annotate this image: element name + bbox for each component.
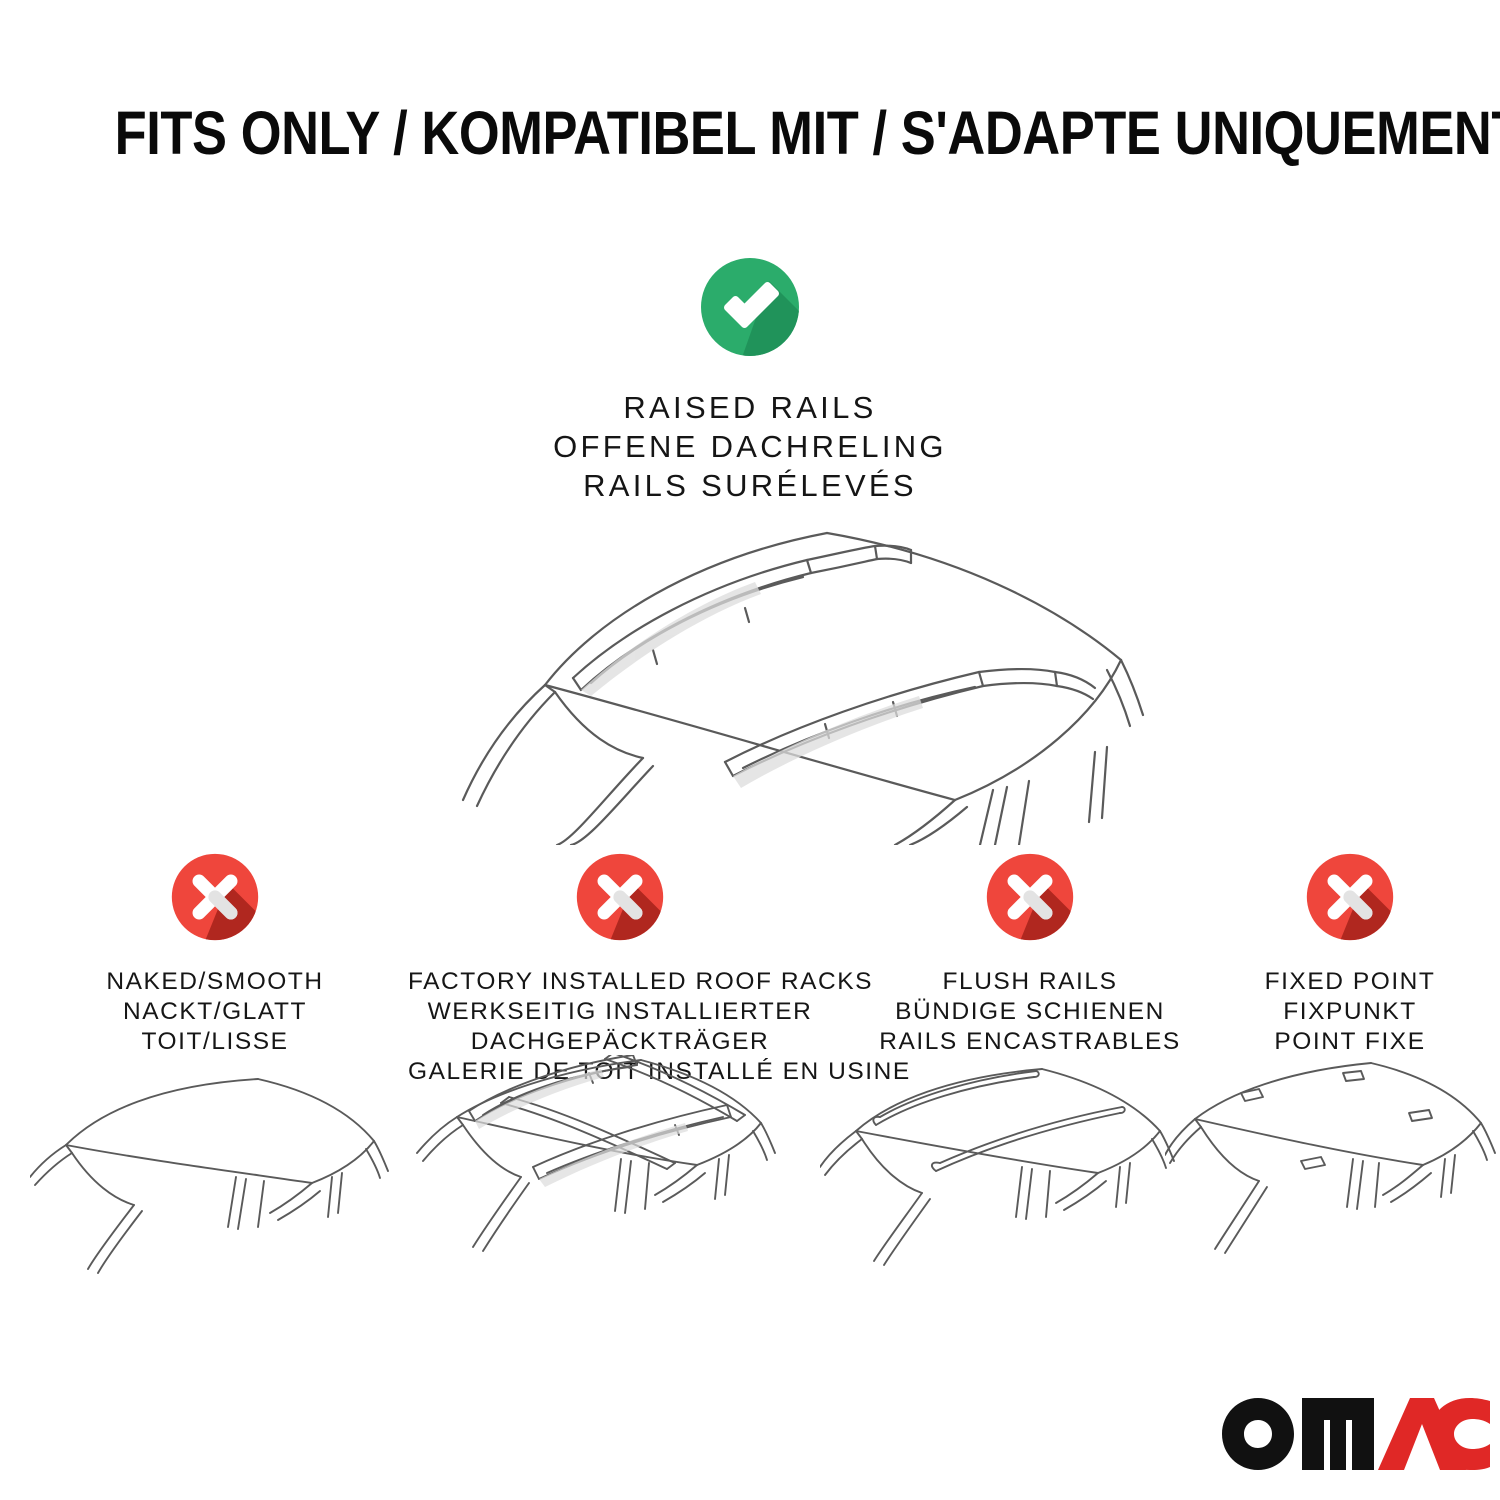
label-en: FIXED POINT: [1210, 967, 1490, 997]
label-de: FIXPUNKT: [1210, 997, 1490, 1027]
incompatible-labels: NAKED/SMOOTH NACKT/GLATT TOIT/LISSE: [20, 967, 410, 1057]
car-roof-fixed-point-diagram: [1165, 1055, 1500, 1305]
car-roof-with-raised-rails-diagram: [395, 500, 1155, 845]
omac-logo: [1222, 1398, 1490, 1470]
incompatible-column-naked-smooth: NAKED/SMOOTH NACKT/GLATT TOIT/LISSE: [20, 845, 410, 1057]
page-title: FITS ONLY / KOMPATIBEL MIT / S'ADAPTE UN…: [0, 103, 1500, 164]
compatible-label-en: RAISED RAILS: [0, 388, 1500, 427]
car-roof-flush-rails-diagram: [820, 1055, 1220, 1305]
car-roof-naked-smooth-diagram: [30, 1055, 430, 1305]
incompatible-column-fixed-point: FIXED POINT FIXPUNKT POINT FIXE: [1210, 845, 1490, 1057]
cross-circle-icon: [1298, 845, 1402, 949]
label-de: BÜNDIGE SCHIENEN: [845, 997, 1215, 1027]
cross-circle-icon: [568, 845, 672, 949]
check-circle-icon: [691, 248, 809, 366]
label-en: NAKED/SMOOTH: [20, 967, 410, 997]
incompatible-labels: FLUSH RAILS BÜNDIGE SCHIENEN RAILS ENCAS…: [845, 967, 1215, 1057]
cross-circle-icon: [163, 845, 267, 949]
incompatible-column-flush-rails: FLUSH RAILS BÜNDIGE SCHIENEN RAILS ENCAS…: [845, 845, 1215, 1057]
compatible-labels: RAISED RAILS OFFENE DACHRELING RAILS SUR…: [0, 388, 1500, 505]
car-roof-factory-installed-roof-racks-diagram: [405, 1055, 815, 1305]
label-de: NACKT/GLATT: [20, 997, 410, 1027]
label-fr: RAILS ENCASTRABLES: [845, 1027, 1215, 1057]
compatible-label-de: OFFENE DACHRELING: [0, 427, 1500, 466]
incompatible-labels: FIXED POINT FIXPUNKT POINT FIXE: [1210, 967, 1490, 1057]
omac-logo-mark: [1222, 1398, 1490, 1470]
label-de-2: DACHGEPÄCKTRÄGER: [408, 1027, 832, 1057]
incompatible-column-factory-roof-racks: FACTORY INSTALLED ROOF RACKS WERKSEITIG …: [408, 845, 832, 1087]
compatible-section: RAISED RAILS OFFENE DACHRELING RAILS SUR…: [0, 248, 1500, 505]
cross-circle-icon: [978, 845, 1082, 949]
label-fr: POINT FIXE: [1210, 1027, 1490, 1057]
label-en: FLUSH RAILS: [845, 967, 1215, 997]
page-title-text: FITS ONLY / KOMPATIBEL MIT / S'ADAPTE UN…: [115, 103, 1500, 164]
label-fr: TOIT/LISSE: [20, 1027, 410, 1057]
label-de-1: WERKSEITIG INSTALLIERTER: [408, 997, 832, 1027]
label-en: FACTORY INSTALLED ROOF RACKS: [408, 967, 832, 997]
